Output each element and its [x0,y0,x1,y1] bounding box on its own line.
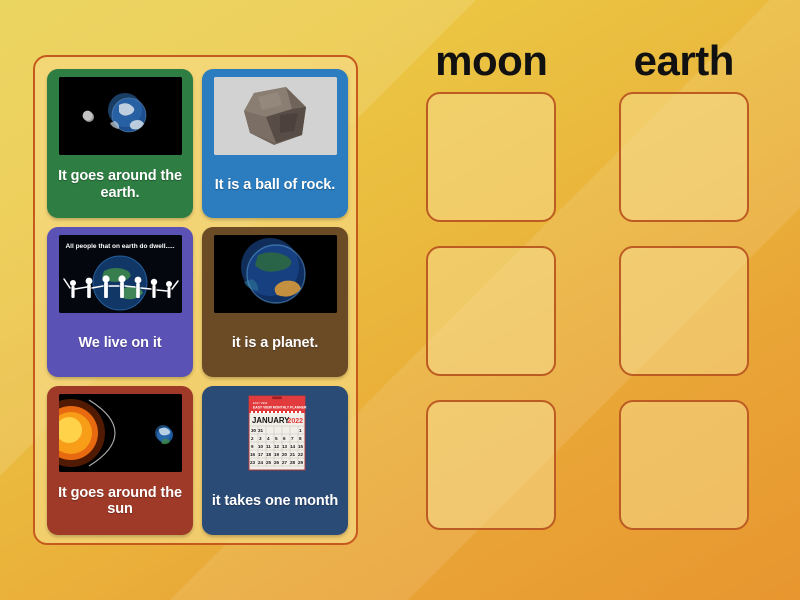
svg-text:24: 24 [258,460,264,465]
svg-text:11: 11 [266,444,271,449]
grey-rock-photo [214,77,337,155]
svg-text:16: 16 [250,452,256,457]
svg-text:25: 25 [266,460,272,465]
calendar-year-text: 2022 [287,418,303,425]
sorting-board: moon earth [395,30,780,575]
activity-stage: It goes around the earth. It is a ball [0,0,800,600]
draggable-card-we-live-on-it[interactable]: All people that on earth do dwell..... [47,227,193,376]
svg-text:2: 2 [251,436,254,441]
draggable-card-takes-one-month[interactable]: EASY VIEW EASY VIEW MONTHLY PLANNER JANU… [202,386,348,535]
svg-text:31: 31 [258,428,264,433]
svg-text:20: 20 [282,452,288,457]
people-on-earth-photo: All people that on earth do dwell..... [59,235,182,313]
category-headers: moon earth [395,30,780,92]
svg-text:1: 1 [299,428,302,433]
planner-title-text: EASY VIEW MONTHLY PLANNER [253,405,307,409]
svg-text:15: 15 [298,444,304,449]
svg-text:6: 6 [283,436,286,441]
svg-text:9: 9 [251,444,254,449]
card-label: It goes around the earth. [53,155,187,211]
svg-text:12: 12 [274,444,280,449]
svg-text:8: 8 [299,436,302,441]
card-label: it is a planet. [230,313,320,369]
svg-text:27: 27 [282,460,288,465]
card-label: It goes around the sun [53,472,187,528]
svg-text:14: 14 [290,444,296,449]
svg-text:26: 26 [274,460,280,465]
answer-tray: It goes around the earth. It is a ball [33,55,358,545]
dropzone-earth-1[interactable] [619,92,749,222]
svg-text:3: 3 [259,436,262,441]
dropzone-grid [395,92,780,530]
dropzone-moon-3[interactable] [426,400,556,530]
svg-text:7: 7 [291,436,294,441]
draggable-card-ball-of-rock[interactable]: It is a ball of rock. [202,69,348,218]
card-grid: It goes around the earth. It is a ball [47,69,348,535]
svg-text:10: 10 [258,444,264,449]
dropzone-earth-3[interactable] [619,400,749,530]
svg-text:22: 22 [298,452,304,457]
image-caption-text: All people that on earth do dwell..... [65,243,174,250]
draggable-card-earth-and-moon[interactable]: It goes around the earth. [47,69,193,218]
dropzone-earth-2[interactable] [619,246,749,376]
card-label: It is a ball of rock. [213,155,337,211]
dropzone-column-moon [395,92,588,530]
svg-text:5: 5 [275,436,278,441]
sun-and-earth-orbit-photo [59,394,182,472]
card-label: We live on it [76,313,163,369]
card-label: it takes one month [210,472,340,528]
earth-and-moon-photo [59,77,182,155]
svg-text:4: 4 [267,436,270,441]
planet-earth-photo [214,235,337,313]
draggable-card-goes-around-the-sun[interactable]: It goes around the sun [47,386,193,535]
svg-text:30: 30 [251,428,257,433]
svg-text:23: 23 [250,460,256,465]
january-calendar-photo: EASY VIEW EASY VIEW MONTHLY PLANNER JANU… [214,394,337,472]
svg-text:21: 21 [290,452,296,457]
svg-text:18: 18 [266,452,272,457]
draggable-card-it-is-a-planet[interactable]: it is a planet. [202,227,348,376]
dropzone-moon-1[interactable] [426,92,556,222]
dropzone-column-earth [588,92,781,530]
svg-text:13: 13 [282,444,288,449]
calendar-month-text: JANUARY [252,416,290,425]
svg-text:19: 19 [274,452,280,457]
svg-text:28: 28 [290,460,296,465]
svg-text:29: 29 [298,460,304,465]
dropzone-moon-2[interactable] [426,246,556,376]
category-header-earth: earth [588,30,781,92]
svg-text:17: 17 [258,452,264,457]
planner-brand-text: EASY VIEW [253,401,268,405]
category-header-moon: moon [395,30,588,92]
